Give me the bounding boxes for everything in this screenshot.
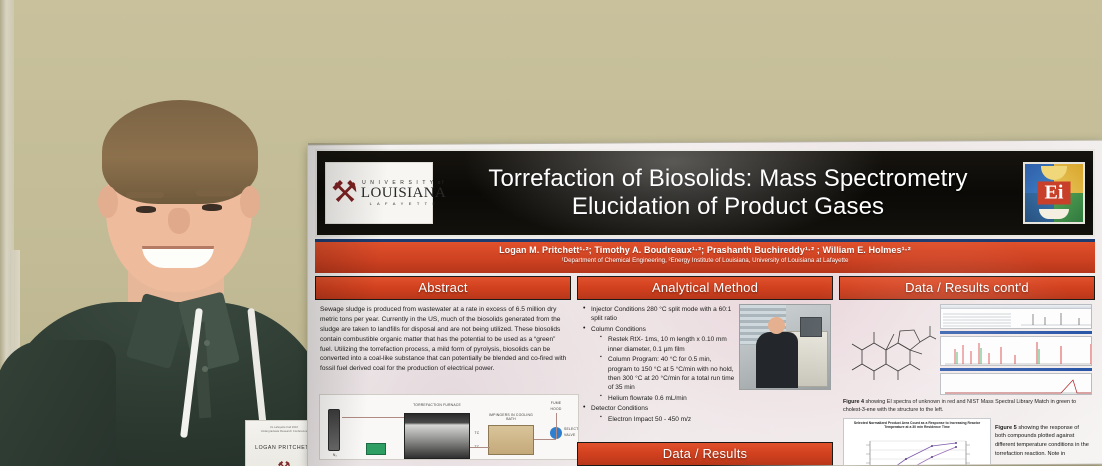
- ear-left: [98, 186, 118, 218]
- sub-bullets: Electron Impact 50 - 450 m/z: [591, 415, 830, 424]
- ul-logo-lafayette: L A F A Y E T T E: [370, 201, 438, 206]
- poster-title: Torrefaction of Biosolids: Mass Spectrom…: [433, 165, 1023, 222]
- smile: [142, 246, 214, 268]
- bullet-item: Injector Conditions 280 °C split mode wi…: [583, 305, 830, 324]
- column-analytical-method: Analytical Method Injector Conditions 28…: [577, 276, 833, 462]
- pipe-line: [342, 417, 404, 418]
- bullet-text: Column Conditions: [591, 326, 646, 333]
- fleur-de-lis-icon: ⚒: [331, 178, 358, 208]
- shirt-sleeve: [0, 340, 116, 466]
- ear-right: [240, 186, 260, 218]
- university-of-louisiana-logo: ⚒ U N I V E R S I T Y of LOUISIANA L A F…: [325, 162, 433, 224]
- chromatogram: [941, 374, 1091, 395]
- impingers-photo: [488, 425, 534, 455]
- sub-bullet-text: Electron Impact 50 - 450 m/z: [608, 416, 691, 423]
- sub-bullet-item: Electron Impact 50 - 450 m/z: [600, 415, 830, 424]
- eye-right: [202, 204, 222, 211]
- presenter-person: UL Lafayette Fall 2016 Undergraduate Res…: [10, 40, 330, 466]
- poster-title-band: ⚒ U N I V E R S I T Y of LOUISIANA L A F…: [315, 149, 1095, 237]
- sub-bullet-text: Column Program: 40 °C for 0.5 min, progr…: [608, 356, 734, 391]
- mass-flow-controller-icon: [366, 443, 386, 455]
- nose: [168, 208, 190, 234]
- hair: [102, 100, 258, 204]
- pipe-line: [534, 439, 556, 440]
- poster-title-line-1: Torrefaction of Biosolids: Mass Spectrom…: [439, 165, 1017, 193]
- column-data-results-contd: Data / Results cont'd: [839, 276, 1095, 462]
- cholest-3-ene-chemical-structure: [842, 304, 936, 386]
- ei-logo-text: Ei: [1038, 182, 1071, 205]
- poster-title-line-2: Elucidation of Product Gases: [439, 193, 1017, 221]
- bullet-text: Detector Conditions: [591, 405, 648, 412]
- sub-bullet-item: Column Program: 40 °C for 0.5 min, progr…: [600, 355, 830, 393]
- flow-label-fume-hood-2: HOOD: [542, 407, 570, 411]
- flow-label-fume-hood-1: FUME: [542, 401, 570, 405]
- author-band: Logan M. Pritchett¹·²; Timothy A. Boudre…: [315, 239, 1095, 273]
- divider-strip: [940, 368, 1092, 371]
- analytical-method-bullets: Injector Conditions 280 °C split mode wi…: [577, 300, 833, 424]
- figure-4-label: Figure 4: [843, 399, 864, 405]
- spectra-pane-ei-overlay: [940, 336, 1092, 366]
- sub-bullets: Restek RtX- 1ms, 10 m length x 0.10 mm i…: [591, 335, 830, 403]
- bullet-text: Injector Conditions 280 °C split mode wi…: [591, 306, 731, 322]
- abstract-body: Sewage sludge is produced from wastewate…: [315, 300, 571, 374]
- energy-institute-logo: Ei: [1023, 162, 1085, 224]
- chart-title: Selected Normalized Product Area Count a…: [844, 419, 990, 430]
- flow-label-impingers: IMPINGERS IN COOLING BATH: [486, 413, 536, 421]
- poster-columns: Abstract Sewage sludge is produced from …: [315, 276, 1095, 462]
- eye-left: [136, 206, 156, 213]
- flow-label-n2: N₂: [326, 453, 344, 457]
- torrefaction-process-flow-diagram: N₂ TORREFACTION FURNACE TC TC IMPINGERS …: [319, 394, 579, 460]
- section-header-data-results: Data / Results: [577, 442, 833, 466]
- sub-bullet-text: Restek RtX- 1ms, 10 m length x 0.10 mm i…: [608, 336, 727, 352]
- pipe-line: [556, 413, 557, 439]
- mass-spectra-library-match-screenshot: [940, 304, 1092, 395]
- figure-5-label: Figure 5: [995, 425, 1017, 431]
- furnace-photo: [404, 413, 470, 459]
- pipe-line: [470, 447, 490, 448]
- section-header-analytical-method: Analytical Method: [577, 276, 833, 300]
- figure-4-caption: Figure 4 showing EI spectra of unknown i…: [839, 395, 1095, 415]
- molecule-svg: [842, 304, 936, 386]
- affiliation-line: ¹Department of Chemical Engineering, ²En…: [315, 257, 1095, 264]
- photo-scene: UL Lafayette Fall 2016 Undergraduate Res…: [0, 0, 1102, 466]
- spectra-pane-hitlist: [940, 304, 1092, 329]
- bullet-item: Column Conditions Restek RtX- 1ms, 10 m …: [583, 325, 830, 403]
- author-list: Logan M. Pritchett¹·²; Timothy A. Boudre…: [315, 245, 1095, 255]
- figure-4-row: [839, 300, 1095, 395]
- figure-4-caption-text: showing EI spectra of unknown in red and…: [843, 399, 1076, 413]
- toolbar-strip: [941, 305, 1091, 309]
- ei-spectrum: [941, 337, 1091, 366]
- research-poster: ⚒ U N I V E R S I T Y of LOUISIANA L A F…: [308, 141, 1102, 466]
- shirt-button: [202, 366, 208, 372]
- figure-5-row: Selected Normalized Product Area Count a…: [839, 415, 1095, 466]
- sub-bullet-item: Restek RtX- 1ms, 10 m length x 0.10 mm i…: [600, 335, 830, 354]
- sub-bullet-text: Helium flowrate 0.6 mL/min: [608, 395, 687, 402]
- section-header-data-results-contd: Data / Results cont'd: [839, 276, 1095, 300]
- sub-bullet-item: Helium flowrate 0.6 mL/min: [600, 394, 830, 403]
- eyebrow-left: [126, 192, 164, 198]
- temperature-response-chart: Selected Normalized Product Area Count a…: [843, 418, 991, 466]
- flow-label-furnace: TORREFACTION FURNACE: [398, 403, 476, 407]
- bullet-item: Detector Conditions Electron Impact 50 -…: [583, 404, 830, 424]
- flow-label-tc-1: TC: [472, 431, 482, 435]
- shirt-button: [204, 340, 210, 346]
- eyebrow-right: [196, 190, 234, 196]
- column-abstract: Abstract Sewage sludge is produced from …: [315, 276, 571, 462]
- section-header-abstract: Abstract: [315, 276, 571, 300]
- chart-plot: [844, 435, 991, 466]
- divider-strip: [940, 331, 1092, 334]
- spectra-pane-chromatogram: [940, 373, 1092, 395]
- nitrogen-cylinder-icon: [328, 409, 340, 451]
- figure-5-caption: Figure 5 showing the response of both co…: [995, 418, 1091, 466]
